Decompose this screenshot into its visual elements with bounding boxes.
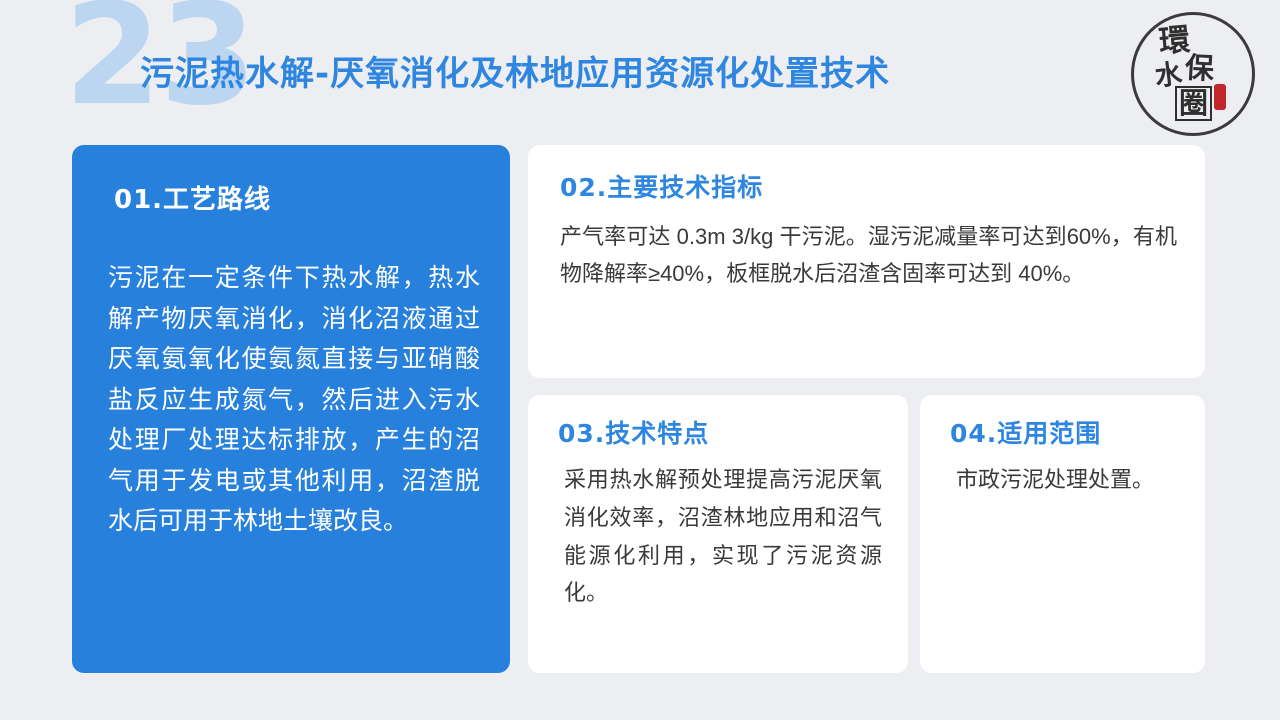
page-title: 污泥热水解-厌氧消化及林地应用资源化处置技术 [140,54,890,95]
card-04-body: 市政污泥处理处置。 [956,461,1179,499]
card-process-route: 01.工艺路线 污泥在一定条件下热水解，热水解产物厌氧消化，消化沼液通过厌氧氨氧… [72,145,510,673]
card-01-heading: 01.工艺路线 [114,185,480,216]
brand-stamp-logo: 環 保 水 圈 [1131,12,1255,136]
card-02-body: 产气率可达 0.3m 3/kg 干污泥。湿污泥减量率可达到60%，有机物降解率≥… [560,219,1177,293]
slide-header: 23 污泥热水解-厌氧消化及林地应用资源化处置技术 [0,0,1280,145]
card-application-scope: 04.适用范围 市政污泥处理处置。 [920,395,1205,673]
stamp-char-4: 圈 [1175,86,1212,121]
card-01-body: 污泥在一定条件下热水解，热水解产物厌氧消化，消化沼液通过厌氧氨氧化使氨氮直接与亚… [108,258,480,542]
card-03-body: 采用热水解预处理提高污泥厌氧消化效率，沼渣林地应用和沼气能源化利用，实现了污泥资… [564,461,882,612]
card-02-heading: 02.主要技术指标 [560,173,1177,203]
stamp-char-2: 保 [1184,53,1214,83]
card-03-heading: 03.技术特点 [558,419,882,449]
card-key-indicators: 02.主要技术指标 产气率可达 0.3m 3/kg 干污泥。湿污泥减量率可达到6… [528,145,1205,378]
stamp-characters: 環 保 水 圈 [1131,12,1255,136]
red-seal-icon [1214,84,1226,110]
card-04-heading: 04.适用范围 [950,419,1179,449]
card-technical-features: 03.技术特点 采用热水解预处理提高污泥厌氧消化效率，沼渣林地应用和沼气能源化利… [528,395,908,673]
